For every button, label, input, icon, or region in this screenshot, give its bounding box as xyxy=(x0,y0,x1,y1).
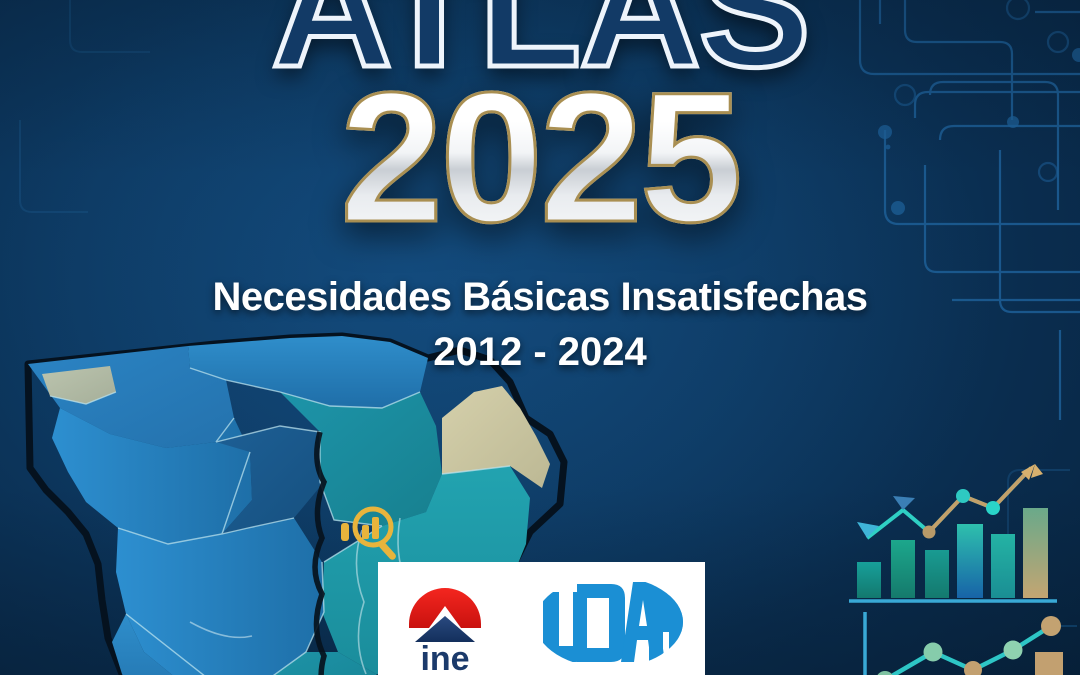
page-period: 2012 - 2024 xyxy=(0,330,1080,375)
logo-panel: ine xyxy=(378,562,705,675)
ine-wordmark: ine xyxy=(420,640,469,672)
line-chart-graphic xyxy=(845,604,1080,675)
page-subtitle: Necesidades Básicas Insatisfechas xyxy=(0,275,1080,320)
bar-chart-graphic xyxy=(845,450,1060,610)
poster-root: ATLAS 2025 Necesidades Básicas Insatisfe… xyxy=(0,0,1080,675)
magnifier-chart-icon xyxy=(336,495,406,565)
udape-logo xyxy=(529,576,689,668)
ine-logo: ine xyxy=(395,576,495,672)
page-year: 2025 xyxy=(0,66,1080,251)
